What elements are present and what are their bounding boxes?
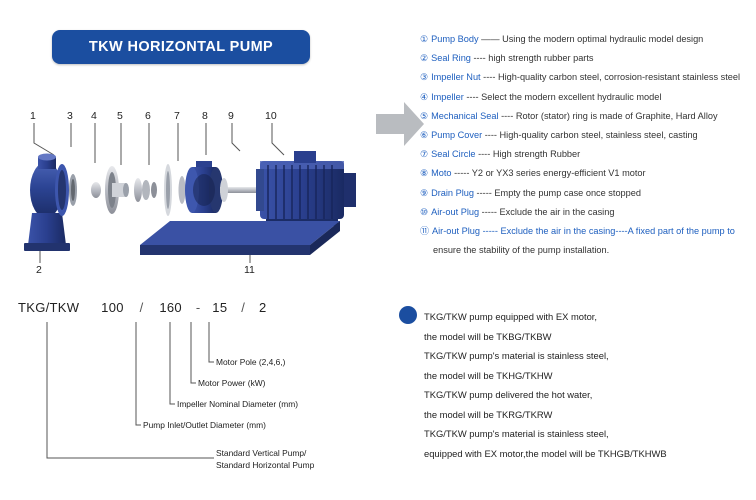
legend-item-4: ④ Impeller ---- Select the modern excell…	[420, 91, 750, 103]
bullet-icon	[399, 306, 417, 324]
model-leader-lines	[18, 300, 378, 490]
legend-number: ⑤	[420, 110, 428, 122]
legend-item-9: ⑨ Drain Plug ----- Empty the pump case o…	[420, 187, 750, 199]
legend-desc: Using the modern optimal hydraulic model…	[502, 34, 703, 44]
legend-item-1: ① Pump Body —— Using the modern optimal …	[420, 33, 750, 45]
legend-label: Mechanical Seal	[431, 111, 498, 121]
part-base-plate	[140, 221, 340, 255]
legend-item-8: ⑧ Moto ----- Y2 or YX3 series energy-eff…	[420, 167, 750, 179]
model-label-standard-vertical: Standard Vertical Pump/	[216, 448, 306, 458]
legend-label: Impeller Nut	[431, 72, 481, 82]
legend-dash: -----	[483, 226, 498, 236]
legend-desc: Select the modern excellent hydraulic mo…	[481, 92, 661, 102]
legend-text: Air-out Plug ----- Exclude the air in th…	[431, 206, 614, 218]
legend-number: ⑪	[420, 225, 429, 237]
legend-label: Pump Cover	[431, 130, 482, 140]
callout-11: 11	[244, 264, 255, 276]
legend-label: Air-out Plug	[432, 226, 480, 236]
part-pump-cover	[164, 164, 172, 216]
legend-desc: Rotor (stator) ring is made of Graphite,…	[516, 111, 718, 121]
model-label-standard-horizontal: Standard Horizontal Pump	[216, 460, 314, 470]
legend-text: Drain Plug ----- Empty the pump case onc…	[431, 187, 641, 199]
legend-dash: -----	[477, 188, 492, 198]
model-notes: TKG/TKW pump equipped with EX motor, the…	[424, 307, 744, 463]
pump-illustration: 1 3 4 5 6 7 8 9 10 2 11	[10, 95, 380, 285]
callout-4: 4	[91, 110, 97, 122]
legend-desc: Exclude the air in the casing	[500, 207, 615, 217]
part-seal-ring	[69, 174, 77, 206]
legend-item-2: ② Seal Ring ---- high strength rubber pa…	[420, 52, 750, 64]
legend-desc: High strength Rubber	[493, 149, 580, 159]
callout-5: 5	[117, 110, 123, 122]
legend-number: ⑦	[420, 148, 428, 160]
part-seal-circle	[179, 176, 186, 204]
callout-10: 10	[265, 110, 277, 122]
legend-number: ⑩	[420, 206, 428, 218]
legend-item-7: ⑦ Seal Circle ---- High strength Rubber	[420, 148, 750, 160]
legend-text: Seal Ring ---- high strength rubber part…	[431, 52, 593, 64]
callout-8: 8	[202, 110, 208, 122]
legend-number: ②	[420, 52, 428, 64]
legend-dash: ----	[485, 130, 497, 140]
legend-dash: ----	[466, 92, 478, 102]
note-line: TKG/TKW pump's material is stainless ste…	[424, 346, 744, 366]
callout-1: 1	[30, 110, 36, 122]
legend-label: Seal Ring	[431, 53, 471, 63]
legend-number: ③	[420, 71, 428, 83]
legend-desc: high strength rubber parts	[488, 53, 593, 63]
legend-label: Moto	[431, 168, 451, 178]
legend-label: Pump Body	[431, 34, 479, 44]
callout-2: 2	[36, 264, 42, 276]
legend-number: ①	[420, 33, 428, 45]
legend-text: Pump Cover ---- High-quality carbon stee…	[431, 129, 698, 141]
legend-label: Seal Circle	[431, 149, 475, 159]
legend-item-3: ③ Impeller Nut ---- High-quality carbon …	[420, 71, 750, 83]
legend-text: Mechanical Seal ---- Rotor (stator) ring…	[431, 110, 718, 122]
legend-desc: High-quality carbon steel, corrosion-res…	[498, 72, 740, 82]
legend-desc: High-quality carbon steel, stainless ste…	[500, 130, 698, 140]
legend-text: Moto ----- Y2 or YX3 series energy-effic…	[431, 167, 646, 179]
part-mechanical-seal	[134, 178, 157, 202]
legend-desc: Exclude the air in the casing----A fixed…	[500, 226, 734, 236]
part-motor	[256, 151, 356, 226]
page-title-text: TKW HORIZONTAL PUMP	[89, 39, 273, 55]
model-label-motor-pole: Motor Pole (2,4,6,)	[216, 357, 285, 367]
legend-dash: -----	[454, 168, 469, 178]
legend-dash: ----	[483, 72, 495, 82]
part-pump-body	[24, 154, 70, 252]
model-label-motor-power: Motor Power (kW)	[198, 378, 265, 388]
legend-desc: Y2 or YX3 series energy-efficient V1 mot…	[472, 168, 646, 178]
part-bracket	[185, 161, 223, 213]
legend-item-11-continuation: ensure the stability of the pump install…	[433, 244, 750, 256]
note-line: the model will be TKRG/TKRW	[424, 405, 744, 425]
legend-item-10: ⑩ Air-out Plug ----- Exclude the air in …	[420, 206, 750, 218]
legend-item-5: ⑤ Mechanical Seal ---- Rotor (stator) ri…	[420, 110, 750, 122]
callout-3: 3	[67, 110, 73, 122]
legend-number: ⑥	[420, 129, 428, 141]
legend-label: Drain Plug	[431, 188, 474, 198]
page-title: TKW HORIZONTAL PUMP	[52, 30, 310, 64]
legend-text: Impeller ---- Select the modern excellen…	[431, 91, 661, 103]
legend-desc: Empty the pump case once stopped	[494, 188, 641, 198]
note-line: the model will be TKBG/TKBW	[424, 327, 744, 347]
note-line: equipped with EX motor,the model will be…	[424, 444, 744, 464]
page-root: TKW HORIZONTAL PUMP	[0, 0, 756, 500]
legend-item-6: ⑥ Pump Cover ---- High-quality carbon st…	[420, 129, 750, 141]
note-line: TKG/TKW pump's material is stainless ste…	[424, 424, 744, 444]
model-label-inlet-outlet-diameter: Pump Inlet/Outlet Diameter (mm)	[143, 420, 266, 430]
legend-label: Air-out Plug	[431, 207, 479, 217]
legend-dash: ----	[473, 53, 485, 63]
legend-item-11: ⑪ Air-out Plug ----- Exclude the air in …	[420, 225, 750, 237]
note-line: the model will be TKHG/TKHW	[424, 366, 744, 386]
legend-number: ⑧	[420, 167, 428, 179]
exploded-pump-diagram: 1 3 4 5 6 7 8 9 10 2 11	[10, 95, 380, 285]
legend-dash: ----	[478, 149, 490, 159]
callout-9: 9	[228, 110, 234, 122]
legend-text: Impeller Nut ---- High-quality carbon st…	[431, 71, 740, 83]
parts-legend: ① Pump Body —— Using the modern optimal …	[420, 33, 750, 256]
legend-number: ⑨	[420, 187, 428, 199]
legend-text: Seal Circle ---- High strength Rubber	[431, 148, 580, 160]
legend-dash: ——	[481, 34, 499, 44]
model-code-breakdown: TKG/TKW 100 / 160 - 15 / 2	[18, 300, 378, 490]
callout-7: 7	[174, 110, 180, 122]
model-label-impeller-diameter: Impeller Nominal Diameter (mm)	[177, 399, 298, 409]
legend-label: Impeller	[431, 92, 464, 102]
callout-6: 6	[145, 110, 151, 122]
part-impeller	[91, 166, 129, 214]
note-line: TKG/TKW pump equipped with EX motor,	[424, 307, 744, 327]
legend-number: ④	[420, 91, 428, 103]
legend-dash: -----	[482, 207, 497, 217]
note-line: TKG/TKW pump delivered the hot water,	[424, 385, 744, 405]
legend-text: Air-out Plug ----- Exclude the air in th…	[432, 225, 735, 237]
legend-dash: ----	[501, 111, 513, 121]
arrow-icon	[374, 100, 426, 148]
legend-text: Pump Body —— Using the modern optimal hy…	[431, 33, 703, 45]
